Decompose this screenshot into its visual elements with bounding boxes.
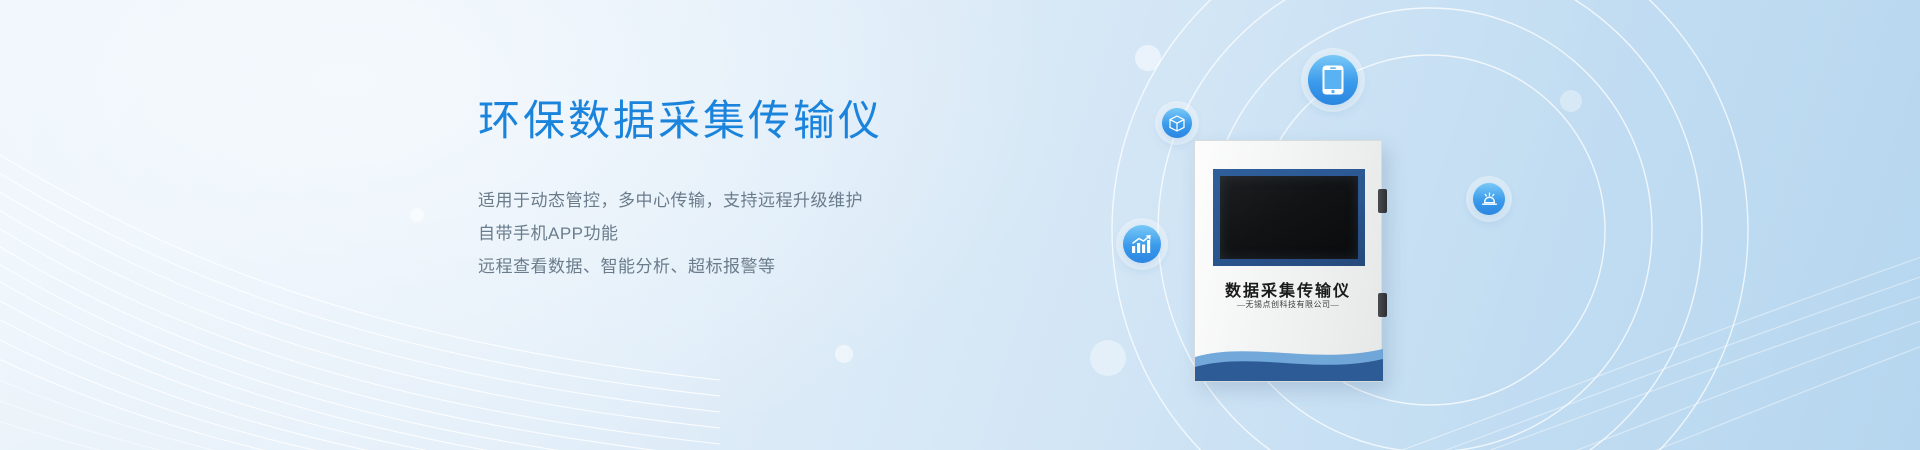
cube-box-icon[interactable] [1162,108,1192,138]
hero-subtitle-line-2: 自带手机APP功能 [478,217,1038,250]
device-hinge [1378,293,1387,317]
device-display [1220,176,1358,259]
bokeh-dot [1090,340,1126,376]
device-image: 数据采集传输仪 —无锡点创科技有限公司— [1180,130,1430,400]
bokeh-dot [1135,45,1161,71]
hero-subtitle-list: 适用于动态管控，多中心传输，支持远程升级维护 自带手机APP功能 远程查看数据、… [478,184,1038,283]
bokeh-dot [410,208,424,222]
device-company-name: —无锡点创科技有限公司— [1195,299,1381,310]
hero-subtitle-line-3: 远程查看数据、智能分析、超标报警等 [478,250,1038,283]
hero-subtitle-line-1: 适用于动态管控，多中心传输，支持远程升级维护 [478,184,1038,217]
device-screen-bezel [1213,169,1365,266]
hero-copy: 环保数据采集传输仪 适用于动态管控，多中心传输，支持远程升级维护 自带手机APP… [478,95,1038,283]
page-title: 环保数据采集传输仪 [478,95,1038,148]
bokeh-dot [1560,90,1582,112]
mobile-phone-icon[interactable] [1308,55,1358,105]
device-hinge [1378,189,1387,213]
device-enclosure: 数据采集传输仪 —无锡点创科技有限公司— [1194,140,1382,382]
device-label: 数据采集传输仪 [1195,277,1381,301]
device-wave-graphic [1195,335,1383,381]
bokeh-dot [835,345,853,363]
alarm-siren-icon[interactable] [1473,183,1505,215]
bar-chart-growth-icon[interactable] [1123,225,1161,263]
hero-banner: 环保数据采集传输仪 适用于动态管控，多中心传输，支持远程升级维护 自带手机APP… [0,0,1920,450]
